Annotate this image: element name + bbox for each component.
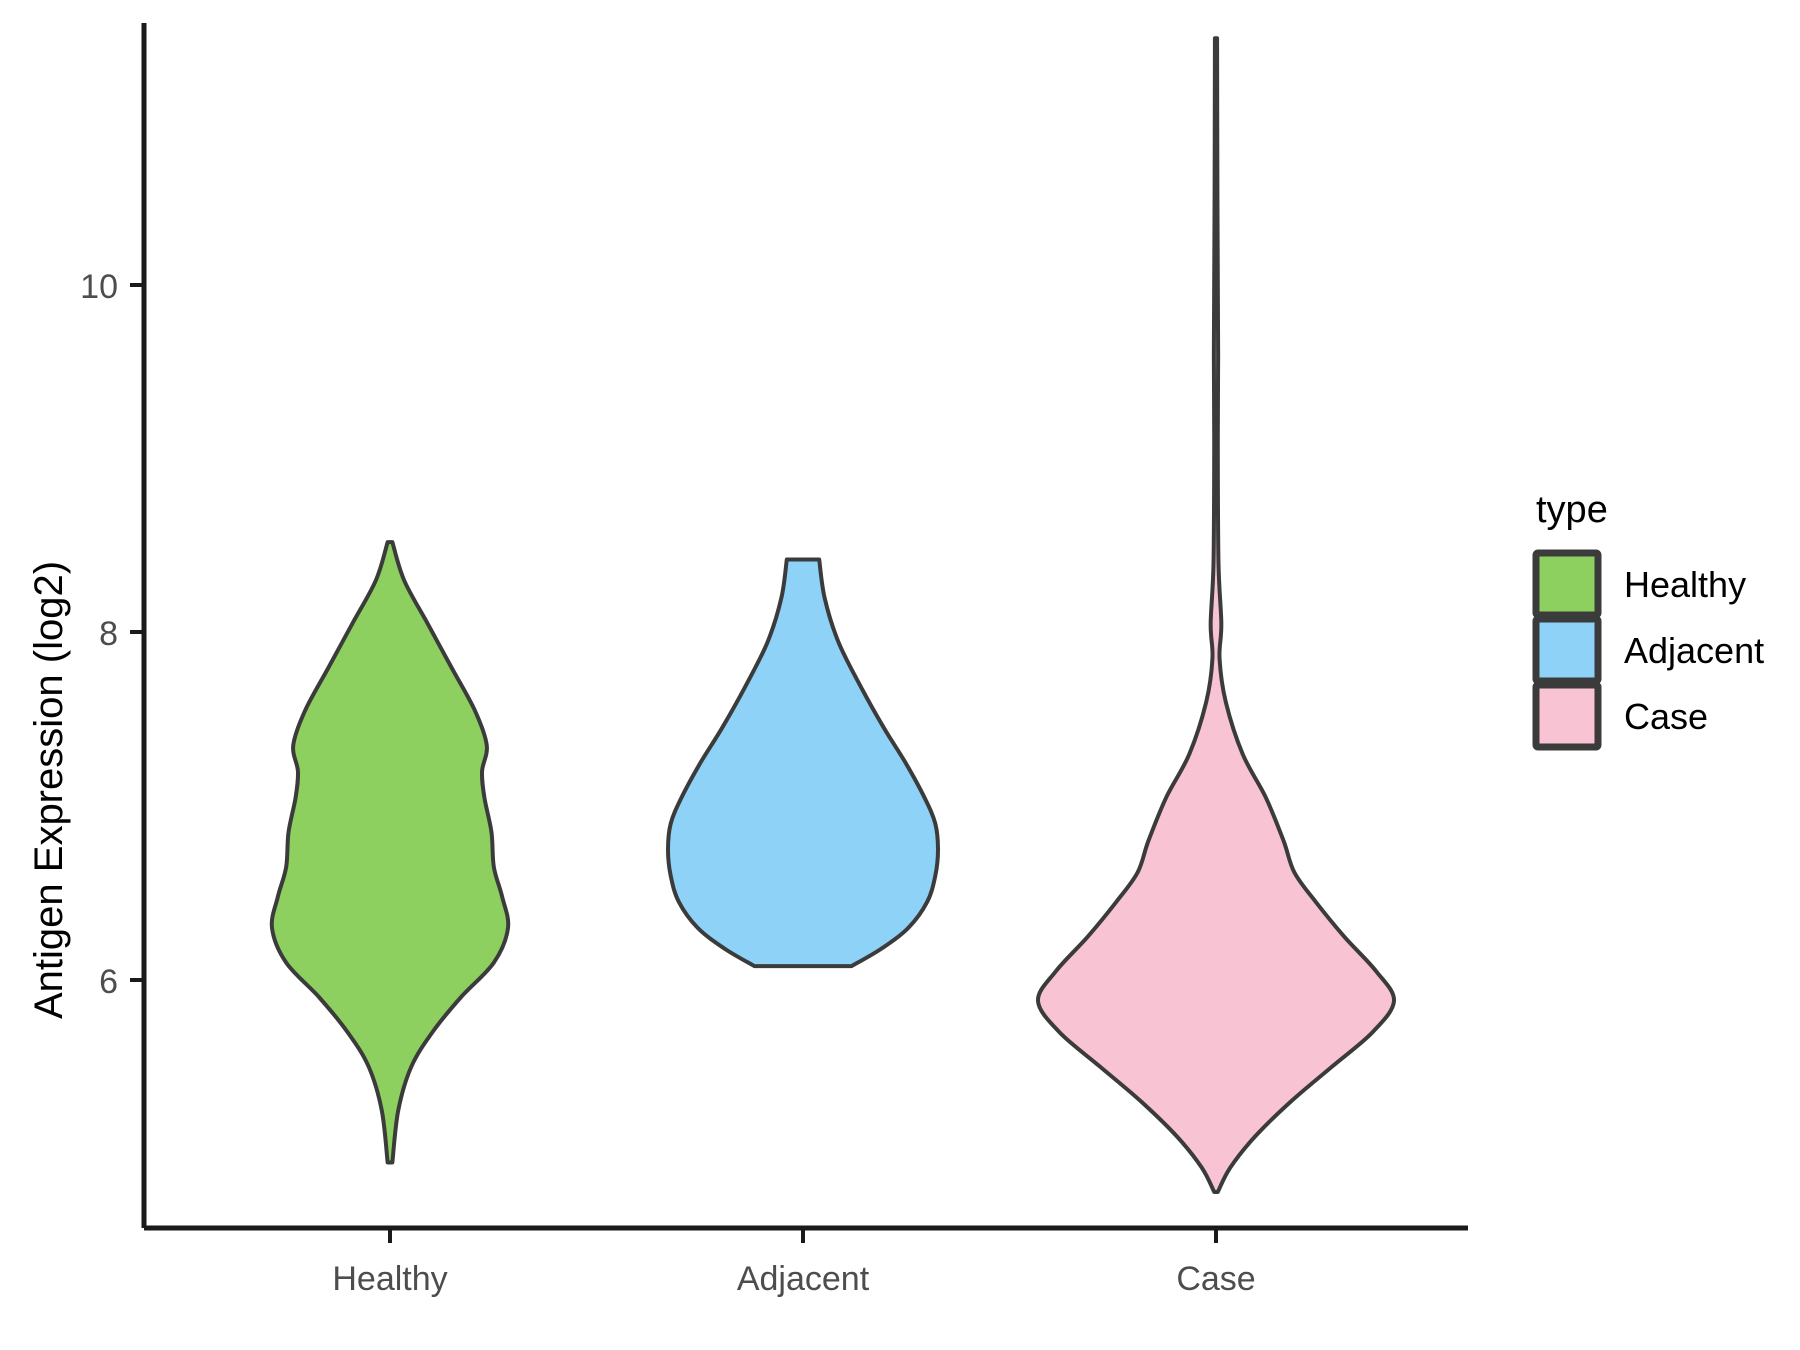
- legend-swatch-case[interactable]: [1536, 685, 1598, 747]
- plot-svg: Antigen Expression (log2) 10 8 6 Healthy…: [0, 0, 1800, 1350]
- y-tick-label-6: 6: [99, 963, 118, 1001]
- y-axis-title: Antigen Expression (log2): [27, 561, 71, 1019]
- y-tick-label-8: 8: [99, 615, 118, 653]
- violin-case[interactable]: [1038, 38, 1394, 1192]
- violin-healthy[interactable]: [272, 542, 508, 1162]
- x-tick-label-healthy: Healthy: [332, 1260, 447, 1298]
- violin-adjacent[interactable]: [668, 560, 938, 967]
- legend-label-case: Case: [1624, 696, 1708, 737]
- legend-label-adjacent: Adjacent: [1624, 630, 1764, 671]
- legend-label-healthy: Healthy: [1624, 564, 1746, 605]
- x-tick-label-adjacent: Adjacent: [737, 1260, 870, 1298]
- x-tick-label-case: Case: [1176, 1260, 1255, 1298]
- legend: type Healthy Adjacent Case: [1536, 489, 1764, 747]
- violin-group: [272, 38, 1394, 1192]
- y-tick-label-10: 10: [80, 268, 118, 306]
- legend-title: type: [1536, 489, 1608, 531]
- violin-plot-figure: Antigen Expression (log2) 10 8 6 Healthy…: [0, 0, 1800, 1350]
- legend-swatch-healthy[interactable]: [1536, 553, 1598, 615]
- legend-swatch-adjacent[interactable]: [1536, 619, 1598, 681]
